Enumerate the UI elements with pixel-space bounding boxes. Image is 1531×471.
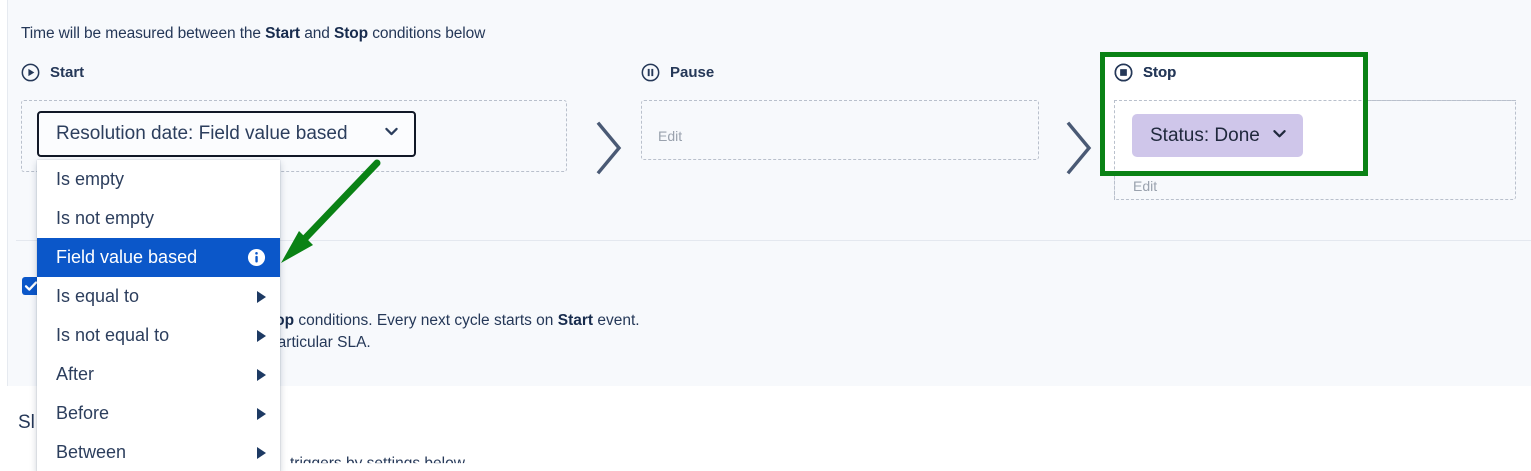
intro-text: Time will be measured between the Start … [21,25,485,43]
start-condition-value: Resolution date: Field value based [56,123,373,145]
cycle-line1-end: event. [593,312,640,329]
start-condition-select[interactable]: Resolution date: Field value based [37,111,416,157]
submenu-arrow-icon [257,330,266,342]
pause-column-header: Pause [641,63,714,82]
start-column-header: Start [21,63,84,82]
stop-status-lozenge[interactable]: Status: Done [1132,114,1303,157]
menu-item-label: After [56,364,249,385]
stop-dropzone-top-edge [1114,100,1516,101]
menu-item-label: Is empty [56,169,266,190]
intro-stop-strong: Stop [334,25,368,42]
pause-circle-icon [641,63,660,82]
submenu-arrow-icon [257,291,266,303]
menu-item-label: Is not empty [56,208,266,229]
condition-dropdown-menu[interactable]: Is empty Is not empty Field value based … [37,160,280,471]
stop-edit-hint[interactable]: Edit [1133,178,1157,194]
menu-item-label: Field value based [56,247,247,268]
stop-circle-icon [1114,63,1133,82]
menu-item-before[interactable]: Before [37,394,280,433]
play-circle-icon [21,63,40,82]
stop-column-header-overlay: Stop [1114,63,1176,82]
stop-dropzone-left-edge [1114,100,1115,200]
pause-edit-hint[interactable]: Edit [658,128,682,144]
info-circle-icon[interactable] [247,248,266,267]
cycle-line1-start2: Start [558,312,593,329]
menu-item-field-value-based[interactable]: Field value based [37,238,280,277]
menu-item-between[interactable]: Between [37,433,280,471]
chevron-down-icon [383,123,400,145]
chevron-down-icon [1271,125,1288,147]
chevron-right-icon [592,118,626,178]
menu-item-is-not-equal-to[interactable]: Is not equal to [37,316,280,355]
pause-label: Pause [670,64,714,81]
pause-dropzone[interactable] [641,100,1039,160]
menu-item-label: Before [56,403,249,424]
submenu-arrow-icon [257,408,266,420]
menu-item-is-not-empty[interactable]: Is not empty [37,199,280,238]
start-label: Start [50,64,84,81]
screenshot-root: Time will be measured between the Start … [0,0,1531,471]
submenu-arrow-icon [257,447,266,459]
menu-item-is-equal-to[interactable]: Is equal to [37,277,280,316]
intro-start-strong: Start [265,25,300,42]
sla-section-heading: Sl [18,412,35,434]
menu-item-label: Between [56,442,249,463]
menu-item-after[interactable]: After [37,355,280,394]
cycle-line1-after: conditions. Every next cycle starts on [294,312,558,329]
stop-label: Stop [1143,64,1176,81]
menu-item-label: Is not equal to [56,325,249,346]
sla-section-subtext: triggers by settings below. [290,455,468,471]
menu-item-label: Is equal to [56,286,249,307]
chevron-right-icon [1062,118,1096,178]
menu-item-is-empty[interactable]: Is empty [37,160,280,199]
submenu-arrow-icon [257,369,266,381]
stop-status-label: Status: Done [1150,125,1260,147]
intro-suffix: conditions below [368,25,485,42]
intro-prefix: Time will be measured between the [21,25,265,42]
intro-middle: and [300,25,334,42]
